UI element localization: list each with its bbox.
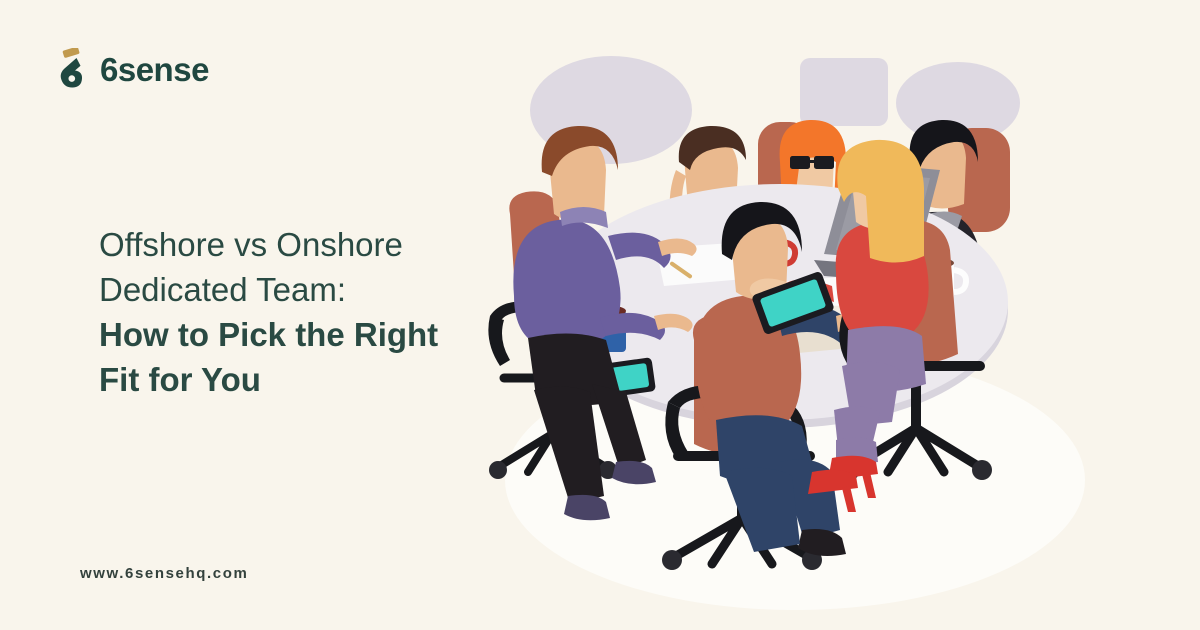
headline-line-4: Fit for You bbox=[99, 357, 519, 402]
headline-line-3: How to Pick the Right bbox=[99, 312, 519, 357]
headline-line-1: Offshore vs Onshore bbox=[99, 222, 519, 267]
6sense-logo-mark-icon bbox=[56, 48, 90, 90]
team-meeting-svg bbox=[480, 10, 1100, 620]
brand-logo[interactable]: 6sense bbox=[56, 48, 209, 90]
banner-canvas: 6sense Offshore vs Onshore Dedicated Tea… bbox=[0, 0, 1200, 630]
headline-line-2: Dedicated Team: bbox=[99, 267, 519, 312]
site-url[interactable]: www.6sensehq.com bbox=[80, 565, 248, 582]
page-title: Offshore vs Onshore Dedicated Team: How … bbox=[99, 222, 519, 402]
team-meeting-illustration bbox=[480, 10, 1100, 620]
brand-name-text: 6sense bbox=[100, 53, 209, 86]
